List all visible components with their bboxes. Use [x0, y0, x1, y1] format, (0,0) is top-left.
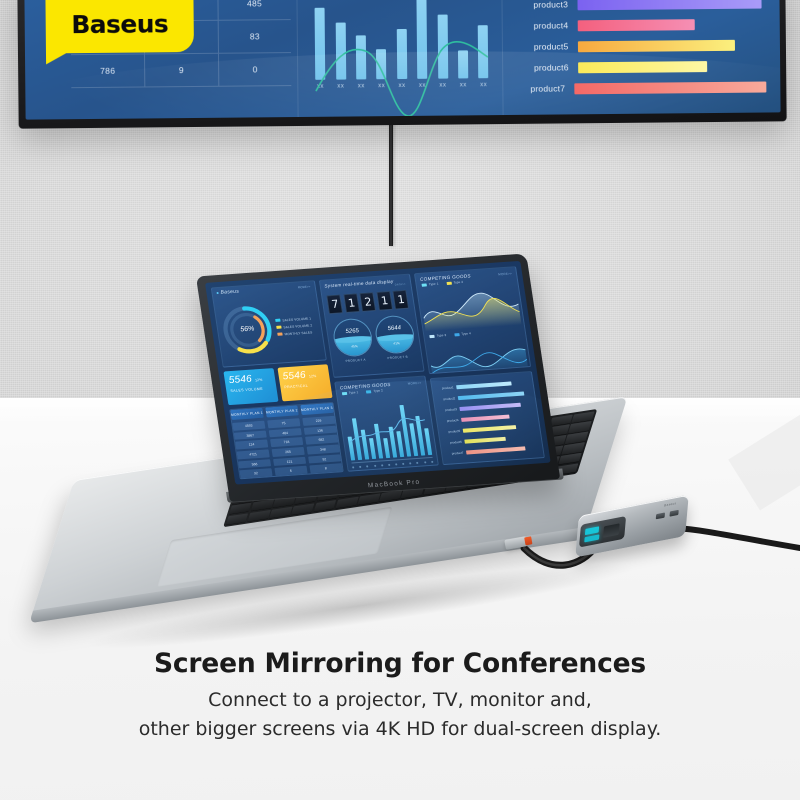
- legend-bottom-label: Type 3: [436, 333, 446, 338]
- table-cell: 124: [235, 440, 268, 450]
- tv-table-cell: 0: [219, 53, 292, 86]
- laptop-product-row: product1: [436, 380, 528, 390]
- kpi-label: PRACTICAL: [284, 383, 326, 390]
- legend-top-label: Type 1: [429, 282, 439, 287]
- legend-bottom-card-swatch: [366, 390, 371, 393]
- gauge-label: PRODUCT B: [379, 354, 416, 360]
- liquid-gauges: 526545%PRODUCT A564441%PRODUCT B: [325, 311, 422, 368]
- table-row: 3867484136: [234, 425, 337, 440]
- competing-goods-right-card: COMPETING GOODS MORE>> Type 1Type 2: [414, 266, 531, 374]
- tv-product-label: product5: [516, 41, 568, 51]
- table-cell: 121: [273, 457, 306, 467]
- donut-legend-swatch: [276, 326, 281, 329]
- legend-top-swatch: [446, 281, 451, 284]
- tv-bar-tick-label: xx: [480, 82, 487, 88]
- tv-product-bars-panel: product3product4product5product6product7: [501, 0, 781, 115]
- laptop: Baseus MORE>>: [60, 268, 750, 628]
- table-cell: 3867: [234, 430, 267, 440]
- table-cell: 136: [303, 425, 336, 435]
- realtime-digit: 7: [327, 294, 344, 314]
- tv-product-label: product3: [516, 0, 568, 10]
- laptop-product-bar: [466, 446, 525, 454]
- hub-brand-mark: Baseus: [664, 501, 677, 508]
- competing-bar-tick: [395, 463, 397, 465]
- laptop-product-row: product3: [440, 402, 532, 412]
- donut-legend-item: MONTHLY SALES: [277, 330, 313, 336]
- tv-bar-item: xx: [373, 0, 390, 89]
- tv-product-label: product6: [517, 62, 569, 72]
- competing-bar-tick: [381, 464, 383, 466]
- competing-bar: [396, 431, 403, 457]
- laptop-product-bar: [460, 403, 521, 411]
- laptop-product-label: product1: [436, 385, 454, 390]
- table-cell: 4593: [232, 421, 265, 431]
- laptop-product-label: product7: [446, 451, 464, 456]
- tv-bar-item: xx: [475, 0, 492, 88]
- competing-bottom-title: COMPETING GOODS: [340, 382, 391, 390]
- tv-table-cell: 485: [218, 0, 291, 20]
- table-cell: 682: [305, 435, 338, 445]
- hub-port-hdmi-icon: [603, 523, 620, 537]
- tv-product-bar: [577, 19, 694, 31]
- brand-dot-icon: [216, 292, 218, 294]
- tv-bar: [437, 14, 448, 78]
- table-header-cell: MONTHLY PLAN 3: [300, 403, 333, 415]
- tv-product-label: product7: [517, 83, 565, 93]
- tv-product-bar: [577, 39, 734, 52]
- laptop-product-label: product4: [441, 418, 459, 423]
- competing-bar-tick: [424, 461, 426, 463]
- laptop-product-label: product5: [443, 429, 461, 434]
- table-cell: 8: [309, 464, 342, 474]
- tv-bar-tick-label: xx: [317, 84, 324, 90]
- competing-bar: [352, 418, 362, 460]
- realtime-digit: 1: [343, 293, 360, 313]
- donut-card: Baseus MORE>>: [211, 280, 327, 368]
- tv-bar-item: xx: [434, 0, 451, 89]
- tv-bar-tick-label: xx: [460, 82, 467, 88]
- competing-bar-tick: [402, 463, 404, 465]
- table-cell: 265: [271, 447, 304, 457]
- kpi-label: SALES VOLUME: [230, 386, 272, 393]
- donut-legend-label: SALES VOLUME 2: [283, 323, 312, 329]
- legend-bottom-card-swatch: [342, 392, 347, 395]
- realtime-digit: 1: [376, 291, 393, 311]
- kpi-value: 5546: [228, 374, 253, 386]
- laptop-product-bar: [463, 425, 517, 433]
- donut-legend-swatch: [275, 319, 280, 322]
- tv-bar: [315, 8, 326, 80]
- keyboard-key[interactable]: [335, 496, 358, 508]
- tv-screen: 325 485 8378690 xxxxxxxxxxxxxxxxxx produ…: [24, 0, 780, 120]
- competing-bar: [374, 423, 383, 458]
- baseus-logo-badge: Baseus: [45, 0, 194, 53]
- liquid-gauge: 564441%PRODUCT B: [373, 315, 416, 361]
- donut-legend-label: SALES VOLUME 1: [282, 316, 311, 322]
- wall-mounted-tv: 325 485 8378690 xxxxxxxxxxxxxxxxxx produ…: [17, 0, 786, 129]
- tv-bar: [356, 35, 366, 79]
- tv-product-bar: [574, 81, 766, 94]
- caption-block: Screen Mirroring for Conferences Connect…: [0, 648, 800, 745]
- keyboard-key[interactable]: [291, 503, 314, 515]
- tv-product-bar: [578, 61, 708, 73]
- competing-bar-tick: [431, 461, 433, 463]
- tv-product-label: product4: [516, 20, 568, 30]
- donut-legend-item: SALES VOLUME 2: [276, 323, 312, 329]
- gauge-label: PRODUCT A: [337, 357, 374, 363]
- table-body: 4593752293867484136124718682472126534856…: [232, 416, 342, 478]
- laptop-product-bar-list: product1product2product3product4product5…: [430, 371, 545, 465]
- table-header-cell: MONTHLY PLAN 1: [230, 408, 263, 420]
- keyboard-key[interactable]: [225, 513, 248, 525]
- kpi-top: 554612%: [228, 372, 272, 386]
- legend-top-swatch: [422, 283, 427, 286]
- tv-product-row: product4: [516, 18, 766, 32]
- keyboard-key[interactable]: [247, 510, 270, 522]
- laptop-product-bar: [461, 415, 509, 422]
- competing-bottom-legend: Type 1Type 2: [336, 385, 426, 397]
- competing-bottom-more[interactable]: MORE>>: [407, 381, 421, 386]
- laptop-product-row: product2: [438, 391, 530, 401]
- table-cell: 6: [274, 466, 307, 476]
- donut-legend-item: SALES VOLUME 1: [275, 316, 311, 322]
- tv-bar: [335, 23, 346, 80]
- competing-bar-tick: [374, 465, 376, 467]
- gauge-ball: 526545%: [331, 317, 375, 357]
- hub-port-face: [579, 516, 626, 548]
- laptop-lid: Baseus MORE>>: [196, 253, 560, 502]
- table-cell: 75: [267, 418, 300, 428]
- product-scene: 325 485 8378690 xxxxxxxxxxxxxxxxxx produ…: [0, 0, 800, 800]
- tv-product-row: product3: [516, 0, 766, 11]
- tv-bar-item: xx: [414, 0, 431, 89]
- table-cell: 4721: [237, 449, 270, 459]
- baseus-wordmark: Baseus: [71, 11, 168, 37]
- competing-bar-tick: [352, 466, 354, 468]
- tv-bar: [458, 51, 468, 79]
- legend-bottom-swatch: [429, 334, 434, 337]
- table-cell: 32: [239, 468, 272, 478]
- keyboard-key[interactable]: [357, 493, 380, 505]
- laptop-product-row: product5: [443, 424, 535, 434]
- tv-product-row: product7: [517, 81, 767, 95]
- tv-bar-tick-label: xx: [337, 84, 344, 90]
- tv-bar-item: xx: [454, 0, 471, 88]
- competing-bar-tick: [416, 462, 418, 464]
- kpi-percent: 12%: [309, 374, 317, 378]
- table-row: 56612192: [238, 454, 341, 469]
- competing-goods-bottom-card: COMPETING GOODS MORE>> Type 1Type 2: [334, 376, 439, 472]
- donut-chart: 56%: [217, 302, 277, 357]
- competing-bar: [369, 438, 376, 459]
- competing-right-wave-bottom: [425, 333, 531, 375]
- donut-legend-label: MONTHLY SALES: [284, 330, 312, 336]
- legend-bottom-swatch: [454, 333, 459, 336]
- tv-product-bar: [577, 0, 762, 10]
- legend-bottom-label: Type 4: [461, 331, 471, 336]
- competing-bar-tick: [409, 462, 411, 464]
- gauge-value: 5265: [334, 327, 371, 335]
- table-cell: 229: [302, 416, 335, 426]
- legend-top-label: Type 2: [453, 280, 463, 285]
- tv-bar-item: xx: [332, 0, 349, 90]
- legend-bottom-card-label: Type 2: [373, 389, 383, 394]
- competing-bar-tick: [366, 465, 368, 467]
- keyboard-key[interactable]: [313, 500, 336, 512]
- competing-right-wave-top: [417, 281, 524, 334]
- tv-bar: [397, 29, 407, 79]
- tv-bezel: 325 485 8378690 xxxxxxxxxxxxxxxxxx produ…: [17, 0, 786, 129]
- legend-bottom-card-item: Type 1: [341, 391, 358, 396]
- competing-bar: [415, 416, 424, 455]
- table-row: 3268: [239, 464, 342, 479]
- realtime-card: System real-time data display DATA>> 712…: [318, 274, 424, 379]
- tv-table-cell: 83: [218, 20, 291, 53]
- laptop-product-row: product6: [444, 435, 536, 445]
- tv-bar: [478, 25, 489, 78]
- headline: Screen Mirroring for Conferences: [0, 648, 800, 679]
- tv-bar-tick-label: xx: [358, 83, 365, 89]
- competing-bar: [389, 427, 397, 457]
- tv-bar-tick-label: xx: [378, 83, 385, 89]
- laptop-product-bar: [458, 392, 525, 401]
- monthly-plan-table-card: MONTHLY PLAN 1MONTHLY PLAN 2MONTHLY PLAN…: [229, 402, 343, 479]
- tv-bar-item: xx: [312, 0, 329, 90]
- competing-bar-tick: [388, 464, 390, 466]
- competing-bottom-line: [343, 397, 432, 460]
- tv-bar-tick-label: xx: [419, 83, 426, 89]
- competing-bar: [409, 423, 417, 455]
- kpi-percent: 12%: [255, 378, 263, 382]
- legend-bottom-card-item: Type 2: [366, 389, 383, 394]
- kpi-top: 554612%: [282, 369, 326, 383]
- laptop-product-label: product2: [438, 396, 456, 401]
- laptop-product-bar: [464, 437, 505, 444]
- competing-bar: [400, 405, 411, 456]
- gauge-value: 5644: [376, 324, 413, 332]
- tv-cable: [389, 122, 393, 246]
- competing-bar: [361, 430, 369, 459]
- tv-bar-chart-panel: xxxxxxxxxxxxxxxxxx: [296, 0, 502, 117]
- gauge-ball: 564441%: [373, 314, 417, 354]
- laptop-product-row: product4: [441, 413, 533, 423]
- donut-legend: SALES VOLUME 1SALES VOLUME 2MONTHLY SALE…: [275, 316, 313, 336]
- keyboard-key[interactable]: [269, 506, 292, 518]
- table-cell: 92: [308, 454, 341, 464]
- table-header-row: MONTHLY PLAN 1MONTHLY PLAN 2MONTHLY PLAN…: [230, 403, 333, 420]
- competing-bar: [424, 428, 432, 455]
- tv-bar-item: xx: [352, 0, 369, 89]
- tv-table-cell: 9: [145, 54, 219, 87]
- laptop-product-label: product3: [440, 407, 458, 412]
- kpi-card: 554612%PRACTICAL: [277, 364, 332, 401]
- kpi-row: 554612%SALES VOLUME554612%PRACTICAL: [223, 364, 332, 405]
- tv-bar-tick-label: xx: [399, 83, 406, 89]
- laptop-screen: Baseus MORE>>: [205, 261, 551, 485]
- hub-port-usb-b-icon: [584, 534, 599, 542]
- tv-bar-tick-label: xx: [439, 83, 446, 89]
- tv-product-row: product5: [516, 39, 766, 53]
- tv-table-cell: 786: [71, 54, 145, 87]
- realtime-digit: 1: [393, 290, 410, 310]
- competing-bar: [383, 438, 389, 458]
- kpi-value: 5546: [282, 370, 307, 382]
- kpi-card: 554612%SALES VOLUME: [223, 368, 278, 405]
- tv-product-bar-list: product3product4product5product6product7: [516, 0, 767, 97]
- laptop-product-bar: [456, 381, 512, 389]
- laptop-product-label: product6: [444, 440, 462, 445]
- tv-bar-chart: xxxxxxxxxxxxxxxxxx: [312, 0, 492, 90]
- legend-bottom-card-label: Type 1: [348, 391, 358, 396]
- liquid-gauge: 526545%PRODUCT A: [331, 318, 374, 364]
- tv-table-row: 78690: [71, 53, 291, 88]
- hub-card-slots: [656, 510, 679, 520]
- table-cell: 348: [306, 445, 339, 455]
- tv-bar-item: xx: [393, 0, 410, 89]
- subline-1: Connect to a projector, TV, monitor and,: [0, 686, 800, 715]
- tv-bar: [376, 49, 386, 79]
- competing-bottom-bar-chart: [337, 391, 438, 471]
- competing-bar-tick: [359, 466, 361, 468]
- dashboard: Baseus MORE>>: [211, 266, 545, 479]
- subline-2: other bigger screens via 4K HD for dual-…: [0, 715, 800, 744]
- table-cell: 566: [238, 459, 271, 469]
- table-cell: 484: [269, 428, 302, 438]
- donut-value: 56%: [217, 302, 277, 357]
- donut-legend-swatch: [277, 333, 282, 336]
- competing-bar: [348, 437, 355, 460]
- tv-bar: [417, 0, 428, 79]
- laptop-product-row: product7: [446, 445, 538, 455]
- table-row: 4721265348: [237, 445, 340, 460]
- table-header-cell: MONTHLY PLAN 2: [265, 406, 298, 418]
- table-row: 124718682: [235, 435, 338, 450]
- realtime-digit: 2: [360, 292, 377, 312]
- tv-product-row: product6: [517, 60, 767, 74]
- table-cell: 718: [270, 437, 303, 447]
